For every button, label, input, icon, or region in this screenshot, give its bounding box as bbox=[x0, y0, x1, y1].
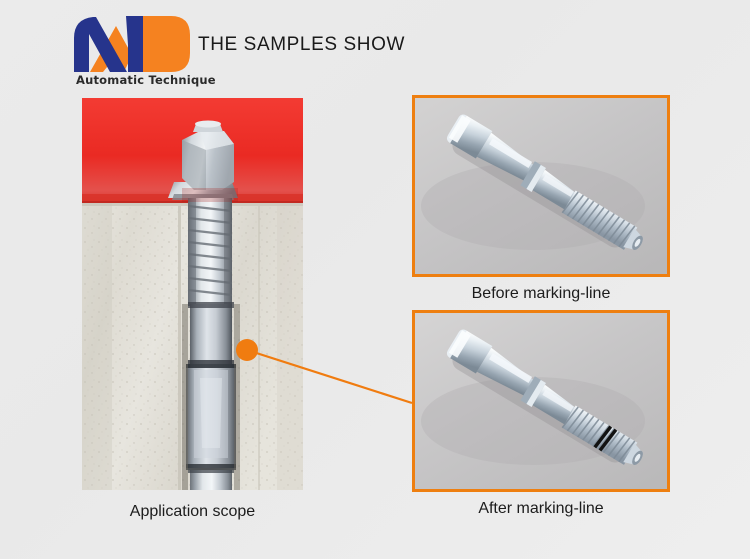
samples-show-page: Automatic Technique THE SAMPLES SHOW bbox=[0, 0, 750, 559]
caption-before-marking-line: Before marking-line bbox=[412, 285, 670, 303]
application-scope-illustration bbox=[82, 98, 303, 490]
after-marking-line-photo-frame bbox=[412, 310, 670, 492]
m-monogram-logo-icon bbox=[72, 16, 190, 72]
logo-tagline: Automatic Technique bbox=[76, 73, 192, 87]
application-scope-photo bbox=[82, 98, 303, 490]
page-title: THE SAMPLES SHOW bbox=[198, 34, 405, 56]
before-marking-line-photo-frame bbox=[412, 95, 670, 277]
caption-application-scope: Application scope bbox=[82, 503, 303, 521]
page-header: Automatic Technique THE SAMPLES SHOW bbox=[0, 0, 750, 96]
before-marking-line-illustration bbox=[415, 98, 667, 274]
company-logo: Automatic Technique bbox=[72, 16, 190, 94]
after-marking-line-illustration bbox=[415, 313, 667, 489]
caption-after-marking-line: After marking-line bbox=[412, 500, 670, 518]
